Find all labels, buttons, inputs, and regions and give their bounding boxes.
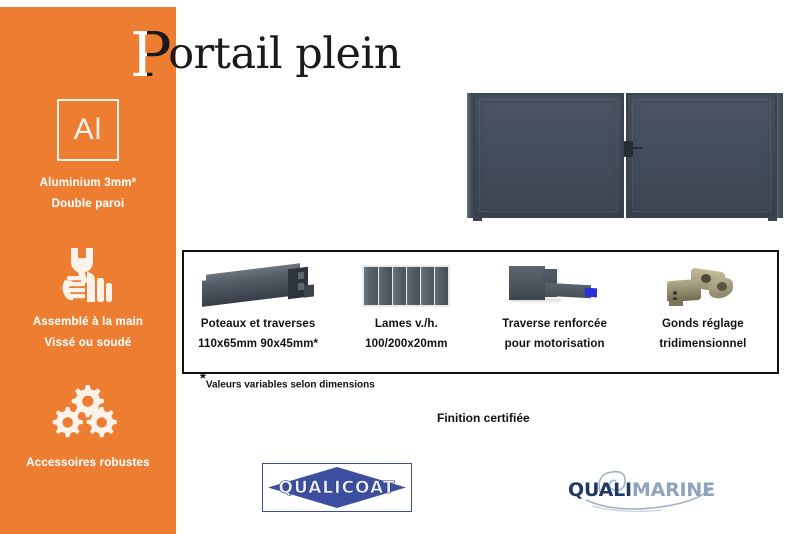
feature-sub-traverse: pour motorisation <box>505 338 605 350</box>
qualicoat-logo-text: QUALICOAT <box>279 478 396 498</box>
hand-holding-wrench-icon <box>57 246 119 304</box>
three-gears-icon <box>50 383 126 443</box>
sidebar-label-aluminium-2: Double paroi <box>52 198 125 210</box>
qualimarine-logo: QUALIMARINE <box>556 466 722 512</box>
al-badge-text: Al <box>74 115 103 145</box>
gate-handle <box>624 141 633 157</box>
feature-specs-box: Poteaux et traverses 110x65mm 90x45mm* L… <box>182 250 779 374</box>
reinforced-crossbar-image <box>481 258 629 314</box>
aluminium-post-profile-image <box>184 258 332 314</box>
qualicoat-logo: QUALICOAT <box>262 463 412 512</box>
crossbar-drawing <box>505 264 605 308</box>
feature-label-traverse: Traverse renforcée <box>502 318 607 330</box>
slats-drawing <box>362 265 450 307</box>
sidebar-label-aluminium-1: Aluminium 3mm* <box>40 177 137 189</box>
feature-label-poteaux: Poteaux et traverses <box>201 318 316 330</box>
feature-label-gonds: Gonds réglage <box>662 318 744 330</box>
hinge-drawing <box>665 264 741 308</box>
qualimarine-text-quali: QUALI <box>568 479 632 501</box>
qualicoat-diamond: QUALICOAT <box>268 467 406 508</box>
sidebar-label-accessories-1: Accessoires robustes <box>26 457 150 469</box>
qualimarine-logo-text: QUALIMARINE <box>568 481 715 500</box>
slide-canvas: Al Aluminium 3mm* Double paroi <box>0 0 800 534</box>
gate-leaf-right <box>626 93 777 218</box>
slats-panel-image <box>332 258 480 314</box>
certification-heading: Finition certifiée <box>437 411 530 425</box>
profile-drawing <box>202 265 314 307</box>
sidebar-label-assembly-1: Assemblé à la main <box>33 316 143 328</box>
feature-label-lames: Lames v./h. <box>375 318 438 330</box>
gate-foot-right <box>768 215 777 221</box>
sidebar-block-accessories: Accessoires robustes <box>0 383 176 469</box>
gate-foot-left <box>473 215 482 221</box>
gate-photo <box>459 83 791 223</box>
feature-sub-poteaux: 110x65mm 90x45mm* <box>198 338 318 350</box>
gate-leaf-left <box>473 93 624 218</box>
aluminium-al-badge-icon: Al <box>57 99 119 161</box>
sidebar-block-aluminium: Al Aluminium 3mm* Double paroi <box>0 99 176 210</box>
feature-gonds: Gonds réglage tridimensionnel <box>629 252 777 372</box>
page-title: Portail plein <box>130 16 401 78</box>
sidebar-label-assembly-2: Vissé ou soudé <box>45 337 132 349</box>
feature-poteaux: Poteaux et traverses 110x65mm 90x45mm* <box>184 252 332 372</box>
three-dimensional-hinge-image <box>629 258 777 314</box>
al-box: Al <box>57 99 119 161</box>
sidebar-block-assembly: Assemblé à la main Vissé ou soudé <box>0 246 176 349</box>
feature-sub-lames: 100/200x20mm <box>365 338 447 350</box>
qualimarine-text-marine: MARINE <box>632 479 715 501</box>
footnote: *Valeurs variables selon dimensions <box>200 379 375 390</box>
gate-post-right <box>776 93 783 218</box>
gate-assembly <box>467 93 783 218</box>
page-title-dropcap: P <box>130 18 171 91</box>
footnote-text: Valeurs variables selon dimensions <box>206 379 375 390</box>
feature-lames: Lames v./h. 100/200x20mm <box>332 252 480 372</box>
feature-sub-gonds: tridimensionnel <box>659 338 746 350</box>
feature-traverse: Traverse renforcée pour motorisation <box>481 252 629 372</box>
page-title-rest: ortail plein <box>168 29 401 79</box>
